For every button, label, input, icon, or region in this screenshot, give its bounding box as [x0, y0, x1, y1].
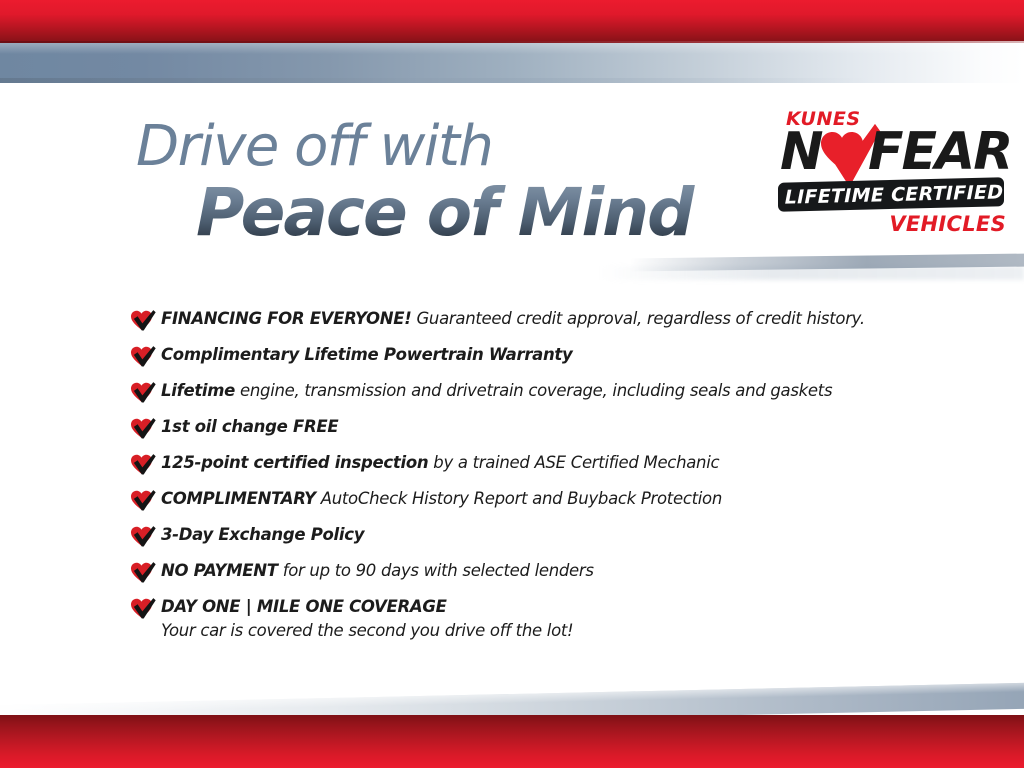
benefit-text: Lifetime engine, transmission and drivet…: [161, 380, 832, 401]
benefit-highlight: Lifetime: [161, 381, 235, 400]
top-gray-sheen: [0, 43, 1024, 54]
bottom-red-bar: [0, 715, 1024, 768]
benefit-text: NO PAYMENT for up to 90 days with select…: [161, 560, 594, 581]
top-gray-base-shadow: [0, 78, 1024, 83]
heart-check-bullet-icon: [130, 489, 156, 511]
logo-vehicles-text: VEHICLES: [780, 212, 1006, 236]
benefit-text-stack: 3-Day Exchange Policy: [161, 524, 364, 545]
benefit-text-stack: FINANCING FOR EVERYONE! Guaranteed credi…: [161, 308, 865, 329]
heart-check-bullet-icon: [130, 345, 156, 367]
benefit-text: Complimentary Lifetime Powertrain Warran…: [161, 344, 572, 365]
logo-word-fear: FEAR: [868, 126, 1011, 178]
headline-block: Drive off with Peace of Mind: [136, 118, 756, 248]
benefit-text: 3-Day Exchange Policy: [161, 524, 364, 545]
headline-line-2: Peace of Mind: [196, 178, 756, 248]
benefit-row: Lifetime engine, transmission and drivet…: [130, 380, 960, 403]
benefit-highlight: FINANCING FOR EVERYONE!: [161, 309, 412, 328]
benefit-highlight: 3-Day Exchange Policy: [161, 525, 364, 544]
heart-check-bullet-icon: [130, 525, 156, 547]
benefit-row: FINANCING FOR EVERYONE! Guaranteed credi…: [130, 308, 960, 331]
top-banner: [0, 0, 1024, 84]
top-red-bar: [0, 0, 1024, 41]
benefit-text: 125-point certified inspection by a trai…: [161, 452, 719, 473]
benefit-text-stack: 1st oil change FREE: [161, 416, 338, 437]
benefit-text: 1st oil change FREE: [161, 416, 338, 437]
benefit-text-stack: 125-point certified inspection by a trai…: [161, 452, 719, 473]
bottom-banner: [0, 682, 1024, 768]
benefit-subtext: Your car is covered the second you drive…: [161, 620, 573, 641]
heart-check-bullet-icon: [130, 309, 156, 331]
benefit-text: DAY ONE | MILE ONE COVERAGE: [161, 596, 573, 617]
benefit-highlight: 1st oil change FREE: [161, 417, 338, 436]
heart-check-bullet-icon: [130, 381, 156, 403]
benefit-highlight: 125-point certified inspection: [161, 453, 428, 472]
benefit-row: Complimentary Lifetime Powertrain Warran…: [130, 344, 960, 367]
heart-check-bullet-icon: [130, 453, 156, 475]
benefit-text: COMPLIMENTARY AutoCheck History Report a…: [161, 488, 722, 509]
logo-wordmark: N FEAR: [780, 126, 1012, 182]
benefit-highlight: Complimentary Lifetime Powertrain Warran…: [161, 345, 572, 364]
benefit-row: 125-point certified inspection by a trai…: [130, 452, 960, 475]
benefits-list: FINANCING FOR EVERYONE! Guaranteed credi…: [130, 308, 960, 654]
heart-check-bullet-icon: [130, 561, 156, 583]
promo-page: Drive off with Peace of Mind KUNES N FEA…: [0, 0, 1024, 768]
benefit-row: COMPLIMENTARY AutoCheck History Report a…: [130, 488, 960, 511]
benefit-text-stack: NO PAYMENT for up to 90 days with select…: [161, 560, 594, 581]
benefit-highlight: NO PAYMENT: [161, 561, 278, 580]
benefit-row: DAY ONE | MILE ONE COVERAGEYour car is c…: [130, 596, 960, 641]
heart-check-bullet-icon: [130, 417, 156, 439]
headline-line-1: Drive off with: [136, 118, 756, 176]
benefit-text-stack: Lifetime engine, transmission and drivet…: [161, 380, 832, 401]
benefit-text: FINANCING FOR EVERYONE! Guaranteed credi…: [161, 308, 865, 329]
benefit-text-stack: DAY ONE | MILE ONE COVERAGEYour car is c…: [161, 596, 573, 641]
benefit-highlight: COMPLIMENTARY: [161, 489, 316, 508]
benefit-text-stack: COMPLIMENTARY AutoCheck History Report a…: [161, 488, 722, 509]
benefit-row: 1st oil change FREE: [130, 416, 960, 439]
benefit-highlight: DAY ONE | MILE ONE COVERAGE: [161, 597, 447, 616]
benefit-row: 3-Day Exchange Policy: [130, 524, 960, 547]
benefit-text-stack: Complimentary Lifetime Powertrain Warran…: [161, 344, 572, 365]
logo-certified-text: LIFETIME CERTIFIED: [786, 178, 1002, 210]
kunes-no-fear-logo: KUNES N FEAR LIFETIME CERTIFIED VEHICLES: [780, 108, 1012, 248]
heart-check-bullet-icon: [130, 597, 156, 619]
benefit-row: NO PAYMENT for up to 90 days with select…: [130, 560, 960, 583]
